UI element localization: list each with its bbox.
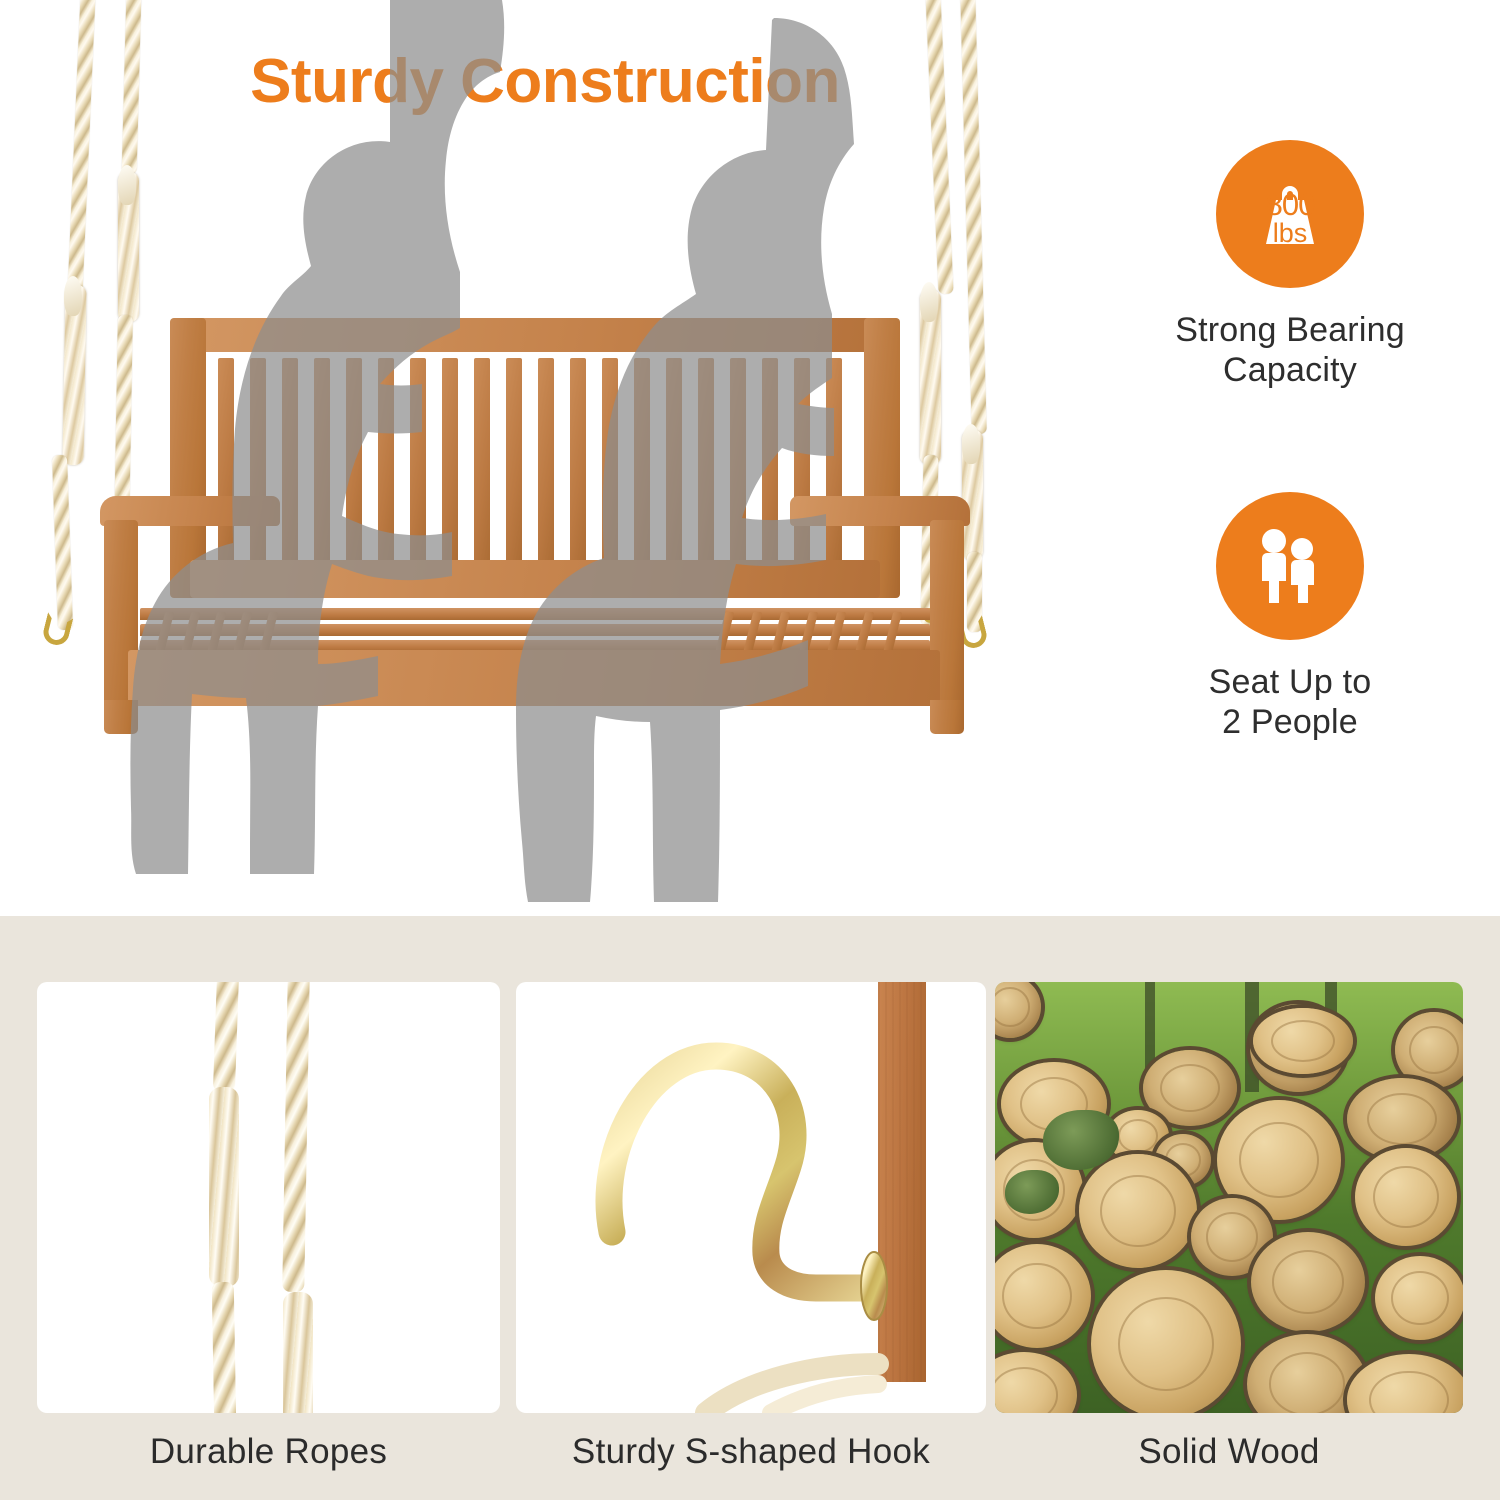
rope-photo-left-lower	[212, 1282, 237, 1413]
feature-label-seating-line2: 2 People	[1222, 703, 1358, 741]
tree-trunk	[1145, 982, 1155, 1072]
porch-swing-illustration	[0, 0, 1060, 916]
feature-label-bearing-line1: Strong Bearing	[1175, 311, 1405, 349]
feature-strong-bearing-capacity: 800 lbs Strong Bearing Capacity	[1140, 140, 1440, 390]
rope-photo-right	[282, 982, 310, 1292]
people-silhouette-overlay	[0, 0, 1060, 916]
detail-panels-section: Durable Ropes St	[0, 916, 1500, 1500]
detail-panel-solid-wood	[995, 982, 1463, 1413]
log-cross-section	[1395, 1012, 1463, 1088]
detail-panel-s-hook	[516, 982, 986, 1413]
rope-photo-left	[213, 982, 239, 1092]
seated-man-silhouette	[130, 0, 504, 874]
weight-unit: lbs	[1216, 218, 1364, 249]
two-people-glyph	[1245, 524, 1335, 608]
feature-seat-capacity: Seat Up to 2 People	[1140, 492, 1440, 742]
feature-label-seating: Seat Up to 2 People	[1140, 662, 1440, 742]
log-cross-section	[1079, 1154, 1197, 1268]
caption-solid-wood: Solid Wood	[995, 1432, 1463, 1482]
seated-woman-silhouette	[516, 18, 854, 902]
caption-durable-ropes: Durable Ropes	[37, 1432, 500, 1482]
rope-photo-left-splice	[209, 1087, 239, 1287]
log-cross-section	[1251, 1232, 1365, 1332]
caption-s-hook: Sturdy S-shaped Hook	[516, 1432, 986, 1482]
weight-bag-icon: 800 lbs	[1216, 140, 1364, 288]
detail-panel-durable-ropes	[37, 982, 500, 1413]
feature-label-bearing-line2: Capacity	[1223, 351, 1357, 389]
feature-label-bearing: Strong Bearing Capacity	[1140, 310, 1440, 390]
rope-photo-right-splice	[283, 1292, 313, 1413]
two-people-icon	[1216, 492, 1364, 640]
feature-label-seating-line1: Seat Up to	[1209, 663, 1372, 701]
log-cross-section	[1253, 1008, 1353, 1074]
hero-section: Sturdy Construction	[0, 0, 1500, 916]
hook-rope	[516, 982, 986, 1413]
log-cross-section	[1355, 1148, 1457, 1246]
log-cross-section	[1091, 1270, 1241, 1413]
log-cross-section	[1375, 1256, 1463, 1340]
